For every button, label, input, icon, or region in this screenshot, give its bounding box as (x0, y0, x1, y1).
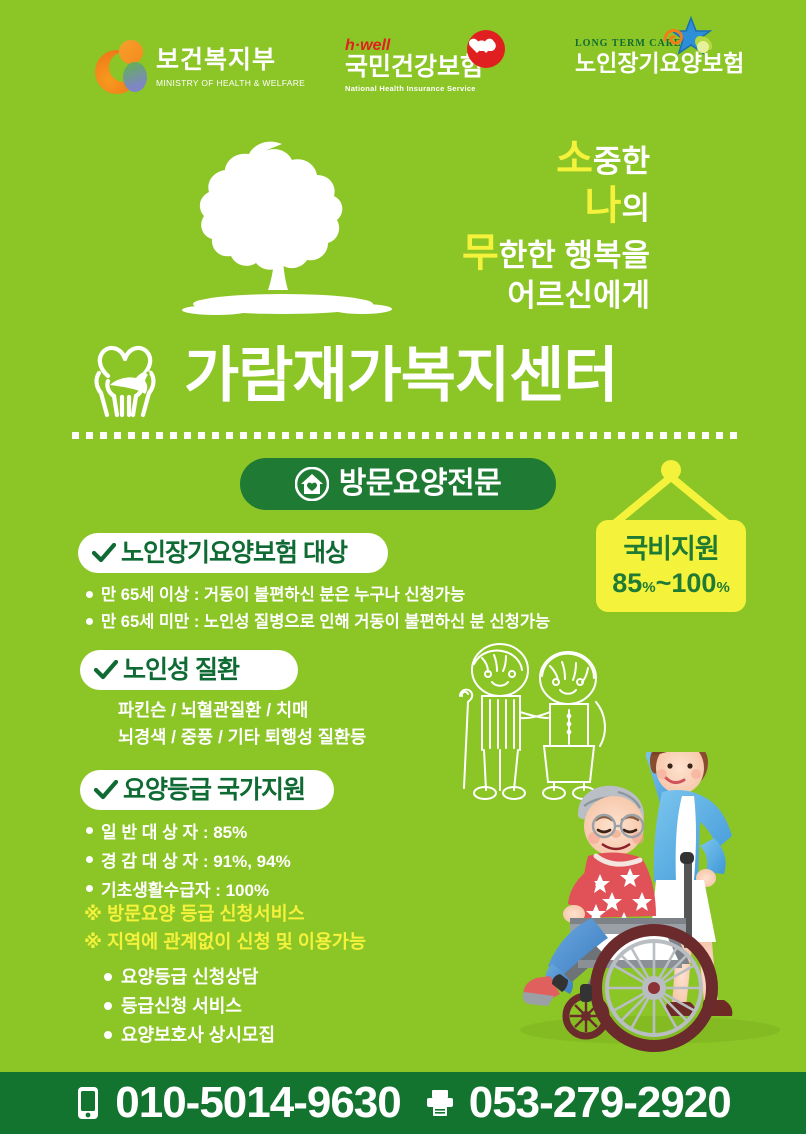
list-item: 요양보호사 상시모집 (104, 1021, 275, 1050)
hands-heart-dove-icon (82, 333, 168, 419)
slogan-highlight-2: 나 (585, 184, 622, 228)
nhis-heart-icon (467, 30, 505, 68)
bullet-dot-icon (86, 856, 93, 863)
tag-range-from: 85 (612, 568, 642, 598)
list-item: 일 반 대 상 자 : 85% (86, 818, 291, 847)
caregiver-wheelchair-illustration (500, 752, 806, 1072)
visit-care-badge: 방문요양전문 (240, 458, 556, 510)
poster-root: 보건복지부 MINISTRY OF HEALTH & WELFARE h·wel… (0, 0, 806, 1134)
check-icon (92, 543, 116, 563)
mohw-name-en: MINISTRY OF HEALTH & WELFARE (156, 78, 305, 88)
section-3-list: 일 반 대 상 자 : 85% 경 감 대 상 자 : 91%, 94% 기초생… (86, 818, 291, 906)
disease-line: 파킨슨 / 뇌혈관질환 / 치매 (118, 697, 366, 724)
list-item: 경 감 대 상 자 : 91%, 94% (86, 847, 291, 876)
list-item-text: 요양등급 신청상담 (121, 963, 258, 992)
slogan-line-4: 어르신에게 (420, 278, 650, 315)
section-title-care-grade-support: 요양등급 국가지원 (80, 770, 334, 810)
slogan-highlight-1: 소 (556, 137, 593, 181)
check-icon (94, 780, 118, 800)
mobile-phone-icon (75, 1086, 101, 1120)
slogan-line-2: 나의 (420, 183, 650, 230)
header-logo-bar: 보건복지부 MINISTRY OF HEALTH & WELFARE h·wel… (0, 38, 806, 116)
slogan-highlight-3: 무 (462, 231, 499, 275)
list-item-text: 등급신청 서비스 (121, 992, 242, 1021)
bullet-dot-icon (86, 618, 93, 625)
bullet-dot-icon (104, 1031, 112, 1039)
tag-title: 국비지원 (623, 536, 718, 563)
tag-tilde: ~ (656, 568, 672, 598)
dashed-divider (72, 432, 738, 439)
bullet-dot-icon (104, 973, 112, 981)
mohw-symbol-icon (95, 40, 147, 96)
disease-line: 뇌경색 / 중풍 / 기타 퇴행성 질환등 (118, 724, 366, 751)
bullet-dot-icon (104, 1002, 112, 1010)
check-icon (94, 660, 118, 680)
services-list: 요양등급 신청상담 등급신청 서비스 요양보호사 상시모집 (104, 963, 275, 1050)
section-1-list: 만 65세 이상 : 거동이 불편하신 분은 누구나 신청가능 만 65세 미만… (86, 582, 550, 635)
tag-percent-1: % (642, 579, 655, 596)
section-3-title: 요양등급 국가지원 (123, 778, 305, 803)
mohw-name-kr: 보건복지부 (156, 48, 305, 73)
visit-badge-label: 방문요양전문 (339, 469, 502, 499)
bullet-dot-icon (86, 591, 93, 598)
logo-long-term-care: LONG TERM CARE 노인장기요양보험 (575, 38, 744, 75)
ltc-star-leaf-icon (655, 16, 717, 62)
slogan-rest-3: 한한 행복을 (499, 238, 650, 273)
mobile-number[interactable]: 010-5014-9630 (115, 1081, 400, 1125)
bullet-dot-icon (86, 827, 93, 834)
tag-plate: 국비지원 85%~100% (596, 520, 746, 612)
note-line: ※ 지역에 관계없이 신청 및 이용가능 (84, 928, 366, 956)
page-title: 가람재가복지센터 (184, 346, 618, 406)
section-2-list: 파킨슨 / 뇌혈관질환 / 치매 뇌경색 / 중풍 / 기타 퇴행성 질환등 (118, 697, 366, 750)
nhis-name-en: National Health Insurance Service (345, 84, 483, 93)
slogan-line-1: 소중한 (420, 136, 650, 183)
list-item: 만 65세 미만 : 노인성 질병으로 인해 거동이 불편하신 분 신청가능 (86, 609, 550, 636)
fax-number[interactable]: 053-279-2920 (469, 1081, 731, 1125)
slogan-line-3: 무한한 행복을 (420, 230, 650, 277)
contact-footer: 010-5014-9630 053-279-2920 (0, 1072, 806, 1134)
logo-ministry-health-welfare: 보건복지부 MINISTRY OF HEALTH & WELFARE (95, 40, 305, 96)
slogan-block: 소중한 나의 무한한 행복을 어르신에게 (420, 136, 650, 314)
brand-row: 가람재가복지센터 (82, 330, 742, 422)
tree-silhouette-icon (150, 132, 420, 332)
list-item-text: 만 65세 이상 : 거동이 불편하신 분은 누구나 신청가능 (101, 582, 465, 609)
list-item-text: 만 65세 미만 : 노인성 질병으로 인해 거동이 불편하신 분 신청가능 (101, 609, 550, 636)
list-item-text: 일 반 대 상 자 : 85% (101, 818, 247, 847)
slogan-rest-1: 중한 (593, 144, 650, 179)
section-1-title: 노인장기요양보험 대상 (121, 541, 347, 566)
notes-block: ※ 방문요양 등급 신청서비스 ※ 지역에 관계없이 신청 및 이용가능 (84, 900, 366, 956)
tag-percent-2: % (716, 579, 729, 596)
house-heart-icon (295, 467, 329, 501)
nhis-brand-hwell: h·well (345, 38, 483, 54)
bullet-dot-icon (86, 885, 93, 892)
tag-range: 85%~100% (612, 570, 730, 597)
section-title-ltc-eligibility: 노인장기요양보험 대상 (78, 533, 388, 573)
logo-national-health-insurance: h·well 국민건강보험 National Health Insurance … (345, 38, 483, 93)
slogan-rest-2: 의 (621, 191, 650, 226)
funding-hanging-tag: 국비지원 85%~100% (596, 460, 746, 612)
list-item: 요양등급 신청상담 (104, 963, 275, 992)
list-item-text: 경 감 대 상 자 : 91%, 94% (101, 847, 291, 876)
nhis-name-kr: 국민건강보험 (345, 55, 483, 80)
section-title-geriatric-disease: 노인성 질환 (80, 650, 298, 690)
tag-range-to: 100 (671, 568, 716, 598)
fax-machine-icon (425, 1088, 455, 1118)
list-item-text: 요양보호사 상시모집 (121, 1021, 275, 1050)
list-item: 등급신청 서비스 (104, 992, 275, 1021)
note-line: ※ 방문요양 등급 신청서비스 (84, 900, 366, 928)
section-2-title: 노인성 질환 (123, 658, 239, 683)
list-item: 만 65세 이상 : 거동이 불편하신 분은 누구나 신청가능 (86, 582, 550, 609)
